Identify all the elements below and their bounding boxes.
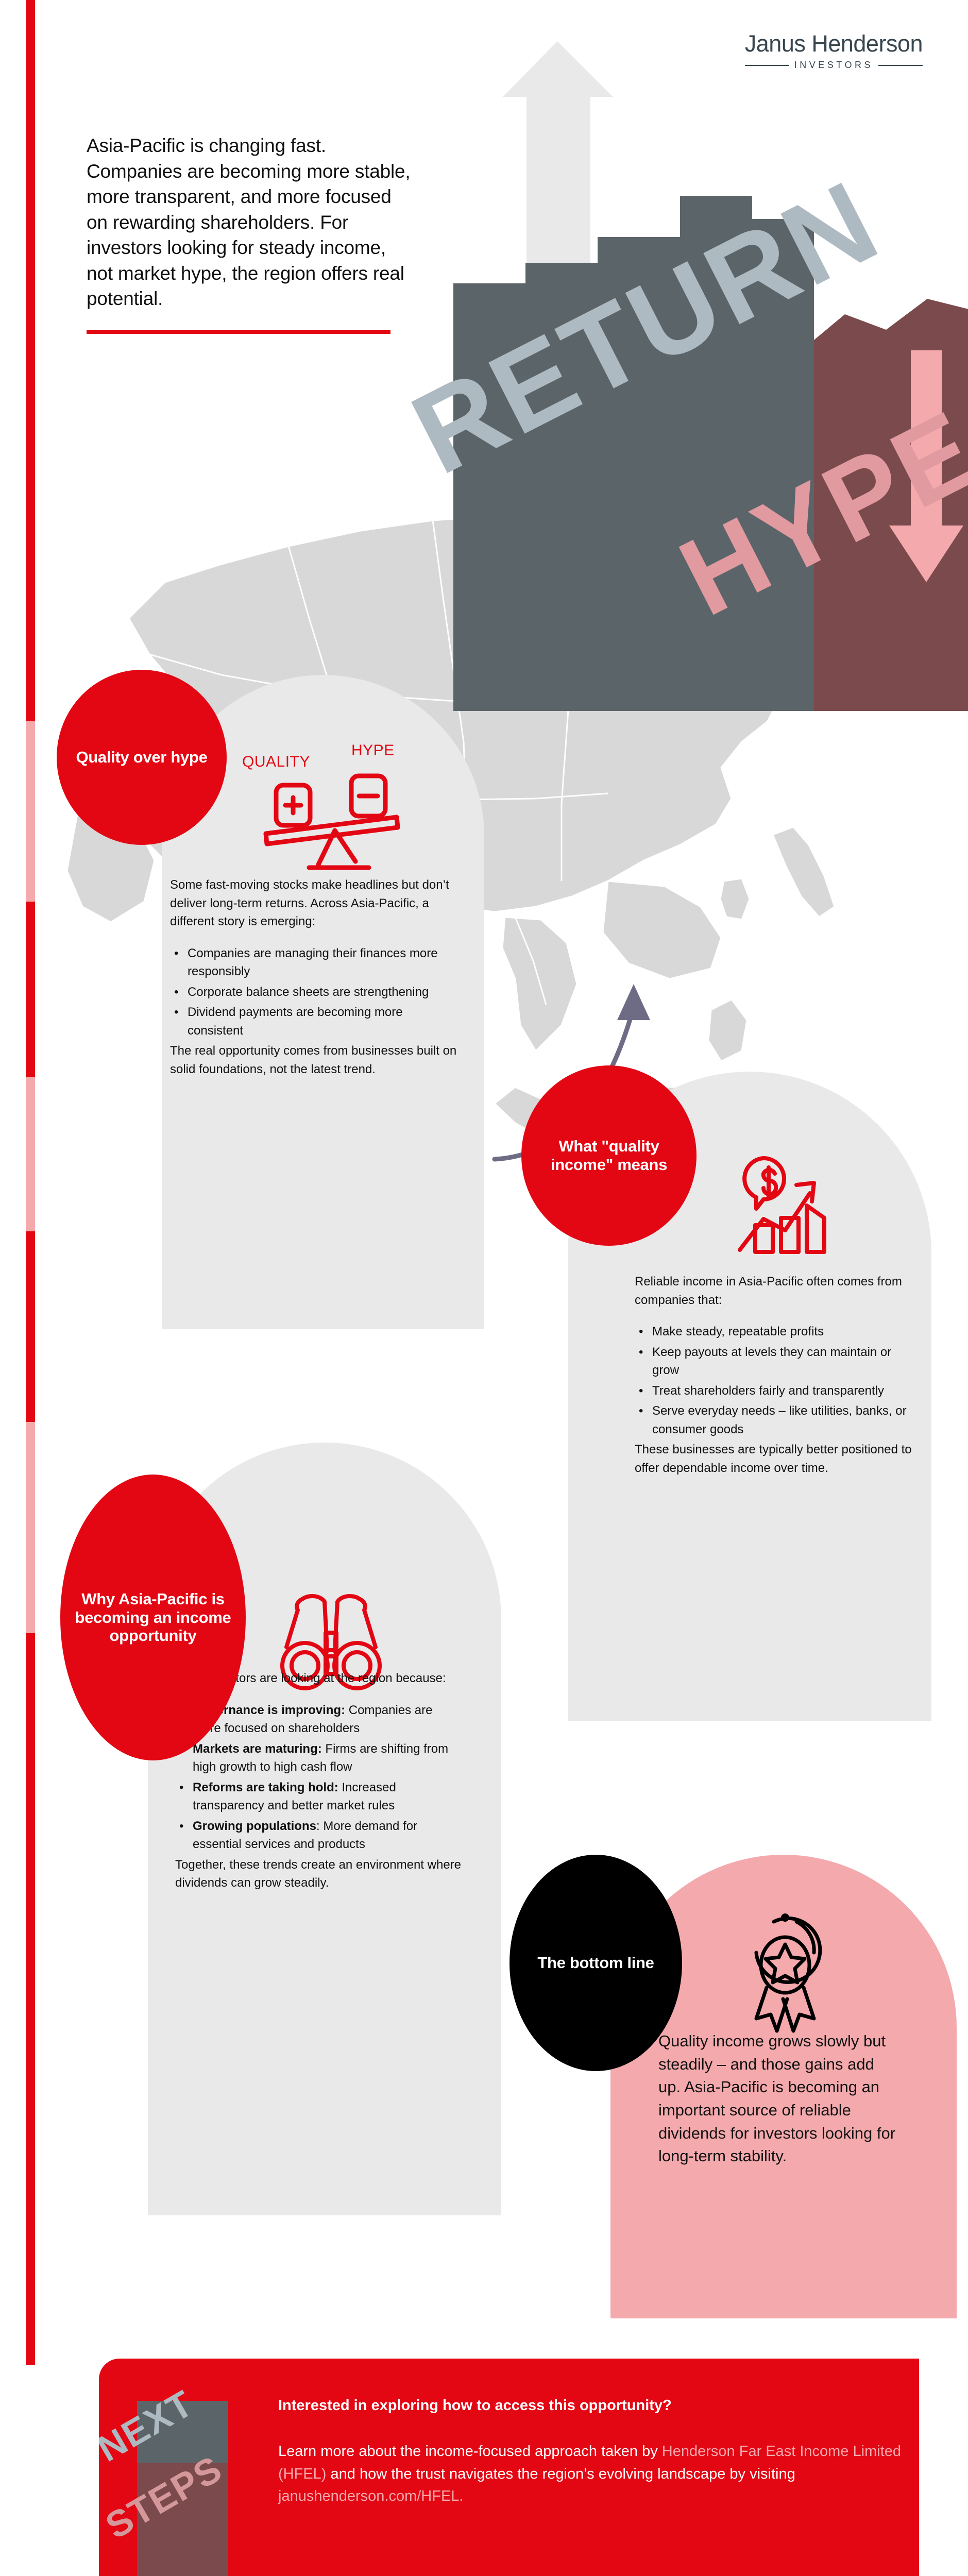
next-steps-body-a: Learn more about the income-focused appr… [278,2443,662,2460]
bullet-lead: Growing populations [193,1819,316,1833]
list-item: Treat shareholders fairly and transparen… [635,1382,921,1400]
list-item: Corporate balance sheets are strengtheni… [170,983,457,1002]
logo-rule-left [745,65,789,66]
logo-investors-text: INVESTORS [794,60,873,71]
bullet-lead: Reforms are taking hold: [193,1781,338,1794]
sidebar-accent-segment-6 [26,1422,35,1633]
section-2-bullets: Make steady, repeatable profits Keep pay… [635,1323,921,1438]
section-1-intro: Some fast-moving stocks make headlines b… [170,876,457,931]
section-3-bullets: Governance is improving: Companies are m… [175,1701,464,1854]
next-steps-question: Interested in exploring how to access th… [278,2396,907,2416]
section-1-copy: Some fast-moving stocks make headlines b… [170,876,457,1078]
list-item: Dividend payments are becoming more cons… [170,1003,457,1040]
intro-underline [87,330,390,334]
sidebar-accent-segment-1 [26,0,35,721]
section-4-bubble-label: The bottom line [530,1954,661,1972]
next-steps-body: Learn more about the income-focused appr… [278,2441,907,2508]
sidebar-accent-segment-3 [26,902,35,1077]
list-item: Serve everyday needs – like utilities, b… [635,1402,921,1438]
list-item: Growing populations: More demand for ess… [175,1817,464,1854]
logo-wordmark: Janus Henderson [745,32,923,55]
section-1-bullets: Companies are managing their finances mo… [170,944,457,1040]
sidebar-accent-segment-2 [26,721,35,902]
logo-rule-right [878,65,923,66]
return-hype-blocks: RETURN HYPE [392,41,968,711]
section-3-outro: Together, these trends create an environ… [175,1856,464,1892]
section-2-bubble-label: What "quality income" means [521,1137,697,1174]
scale-quality-label: QUALITY [242,753,310,771]
section-2-bubble: What "quality income" means [521,1065,697,1246]
sidebar-accent-segment-4 [26,1077,35,1231]
section-4-copy: Quality income grows slowly but steadily… [658,2030,899,2168]
intro-paragraph: Asia-Pacific is changing fast. Companies… [87,133,416,312]
bullet-lead: Markets are maturing: [193,1742,322,1756]
section-4-bubble: The bottom line [510,1855,682,2071]
list-item: Keep payouts at levels they can maintain… [635,1343,921,1380]
section-1-bubble: Quality over hype [57,670,227,845]
intro-block: Asia-Pacific is changing fast. Companies… [87,133,416,334]
logo-subline: INVESTORS [745,60,923,71]
list-item: Markets are maturing: Firms are shifting… [175,1740,464,1776]
section-3-bubble-label: Why Asia-Pacific is becoming an income o… [60,1590,246,1646]
section-2-intro: Reliable income in Asia-Pacific often co… [635,1273,921,1309]
list-item: Reforms are taking hold: Increased trans… [175,1778,464,1815]
hfel-website-link[interactable]: janushenderson.com/HFEL. [278,2488,463,2504]
section-2-outro: These businesses are typically better po… [635,1440,921,1477]
section-3-bubble: Why Asia-Pacific is becoming an income o… [60,1475,246,1760]
next-steps-copy: Interested in exploring how to access th… [278,2396,907,2508]
list-item: Companies are managing their finances mo… [170,944,457,981]
section-1-bubble-label: Quality over hype [69,748,214,767]
sidebar-accent-segment-5 [26,1231,35,1422]
janus-henderson-logo: Janus Henderson INVESTORS [745,32,923,71]
section-2-copy: Reliable income in Asia-Pacific often co… [635,1273,921,1477]
section-4-intro: Quality income grows slowly but steadily… [658,2030,899,2168]
infographic-page: GROWTH RETURN HYPE [0,0,968,2576]
next-steps-body-b: and how the trust navigates the region’s… [326,2466,795,2482]
list-item: Make steady, repeatable profits [635,1323,921,1341]
scale-hype-label: HYPE [351,742,395,759]
sidebar-accent-segment-7 [26,1633,35,2365]
growth-chart-dollar-icon [732,1149,845,1262]
section-1-outro: The real opportunity comes from business… [170,1042,457,1078]
balance-scale-icon [258,773,407,876]
